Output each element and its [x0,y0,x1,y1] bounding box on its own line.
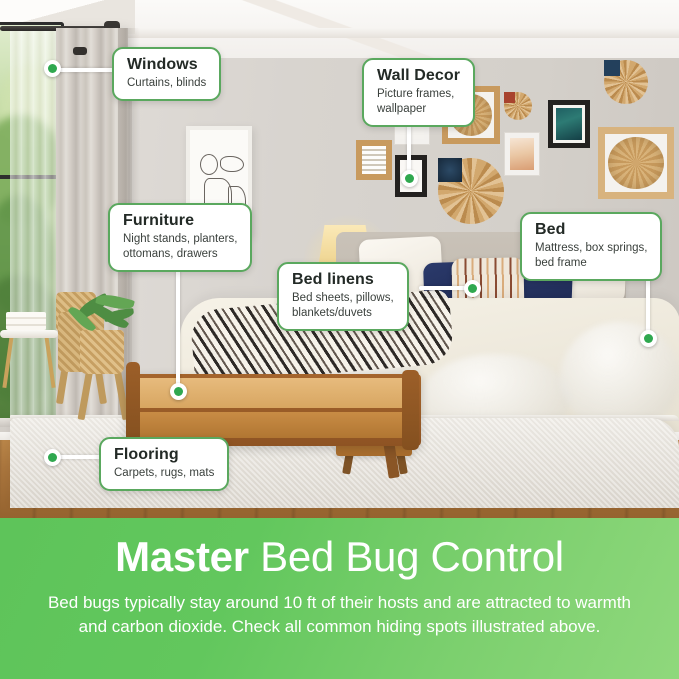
callout-flooring[interactable]: Flooring Carpets, rugs, mats [99,437,229,491]
callout-title: Bed linens [292,271,394,290]
banner-title: Master Bed Bug Control [0,535,679,579]
infographic-page: Windows Curtains, blinds Wall Decor Pict… [0,0,679,679]
art-woven-disc-large [438,158,504,224]
art-teal-print [548,100,590,148]
banner-title-strong: Master [115,533,249,580]
side-table [0,330,58,338]
art-small-round-disc [504,92,532,120]
art-disc-top-right [604,60,648,104]
bench-arm-left [126,362,140,446]
art-swirl-weave-2 [598,127,674,199]
wall-sensor-icon [73,47,87,55]
callout-subtitle: Curtains, blinds [127,76,206,91]
callout-title: Bed [535,221,647,240]
hotspot-dot-furniture[interactable] [170,383,187,400]
stacked-books [6,312,46,330]
bedroom-photo: Windows Curtains, blinds Wall Decor Pict… [0,0,679,518]
callout-bed[interactable]: Bed Mattress, box springs, bed frame [520,212,662,281]
woven-planter [80,330,124,374]
hotspot-dot-wall-decor[interactable] [401,170,418,187]
callout-windows[interactable]: Windows Curtains, blinds [112,47,221,101]
hotspot-dot-windows[interactable] [44,60,61,77]
callout-subtitle: Night stands, planters, ottomans, drawer… [123,232,237,262]
art-checker-frame [356,140,392,180]
banner-body-text: Bed bugs typically stay around 10 ft of … [0,591,679,639]
hotspot-dot-bed[interactable] [640,330,657,347]
hotspot-dot-bed-linens[interactable] [464,280,481,297]
callout-furniture[interactable]: Furniture Night stands, planters, ottoma… [108,203,252,272]
leader-line-windows [52,68,114,72]
callout-title: Furniture [123,212,237,231]
hotspot-dot-flooring[interactable] [44,449,61,466]
callout-subtitle: Picture frames, wallpaper [377,87,460,117]
banner: Master Bed Bug Control Bed bugs typicall… [0,518,679,679]
art-peach-print [505,133,539,175]
bench-panel [134,412,416,438]
callout-subtitle: Mattress, box springs, bed frame [535,241,647,271]
banner-title-rest: Bed Bug Control [249,533,564,580]
bench-arm-right [402,370,419,450]
callout-subtitle: Bed sheets, pillows, blankets/duvets [292,291,394,321]
callout-title: Windows [127,56,206,75]
callout-wall-decor[interactable]: Wall Decor Picture frames, wallpaper [362,58,475,127]
callout-bed-linens[interactable]: Bed linens Bed sheets, pillows, blankets… [277,262,409,331]
leader-line-bed-linens [419,286,469,290]
callout-subtitle: Carpets, rugs, mats [114,466,214,481]
callout-title: Wall Decor [377,67,460,86]
crown-molding [128,28,679,38]
callout-title: Flooring [114,446,214,465]
leader-line-furniture [176,258,180,388]
